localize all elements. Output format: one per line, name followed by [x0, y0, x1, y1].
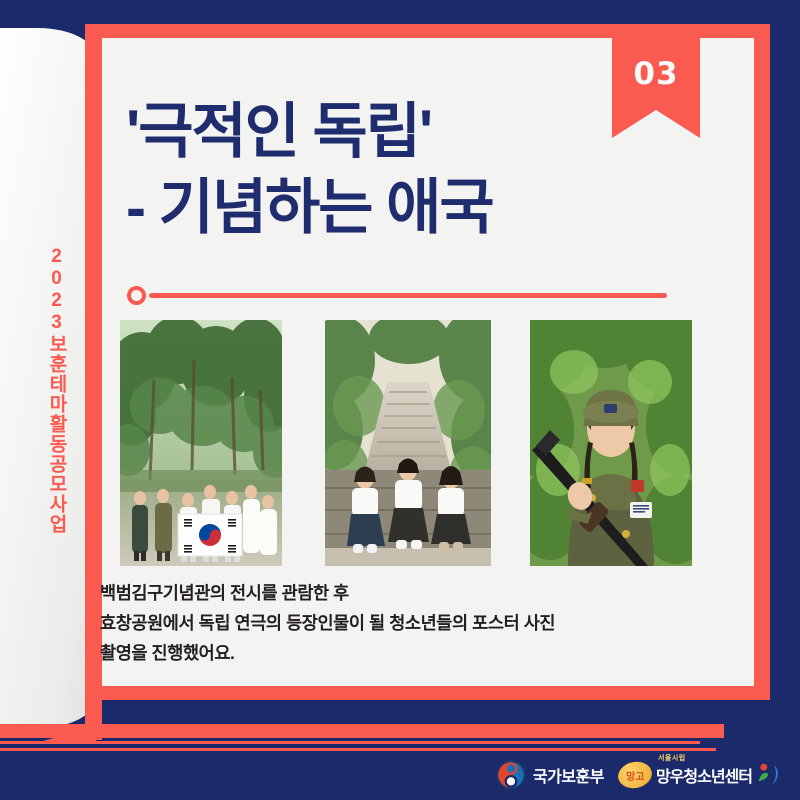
- title-divider: [127, 286, 667, 306]
- photo-group-with-taegukgi: [120, 320, 282, 566]
- stripe-3: [0, 748, 716, 751]
- divider-line: [149, 293, 667, 298]
- caption-line-2: 효창공원에서 독립 연극의 등장인물이 될 청소년들의 포스터 사진: [100, 608, 700, 638]
- photo-youth-in-uniform: [530, 320, 692, 566]
- center-logo: 망고 서울시립 망우청소년센터: [618, 762, 782, 788]
- mango-badge-icon: 망고: [616, 759, 655, 792]
- seoul-mark-icon: [756, 762, 782, 788]
- photo-caption: 백범김구기념관의 전시를 관람한 후 효창공원에서 독립 연극의 등장인물이 될…: [100, 578, 700, 668]
- ministry-label: 국가보훈부: [533, 763, 604, 787]
- mango-label: 망고: [626, 768, 644, 783]
- photo-gallery: [120, 320, 692, 566]
- logo-group: 국가보훈부 망고 서울시립 망우청소년센터: [496, 758, 782, 792]
- center-label: 망우청소년센터: [656, 763, 752, 787]
- taegeuk-icon: [496, 760, 526, 790]
- stripe-1: [0, 724, 724, 738]
- caption-line-1: 백범김구기념관의 전시를 관람한 후: [100, 578, 700, 608]
- center-superlabel: 서울시립: [658, 753, 686, 763]
- stripe-2: [0, 741, 700, 744]
- step-number-label: 03: [633, 56, 678, 92]
- book-top-curve: [0, 22, 96, 88]
- divider-circle-icon: [127, 286, 146, 305]
- photo-three-youths-on-steps: [325, 320, 491, 566]
- campaign-side-label: 2023보훈테마활동공모사업: [16, 190, 72, 590]
- title-line-1: '극적인 독립': [126, 96, 666, 168]
- poster-card: 2023보훈테마활동공모사업 03 '극적인 독립' - 기념하는 애국: [0, 0, 800, 800]
- title-line-2: - 기념하는 애국: [126, 172, 666, 244]
- ministry-logo: 국가보훈부: [496, 760, 604, 790]
- caption-line-3: 촬영을 진행했어요.: [100, 638, 700, 668]
- page-title: '극적인 독립' - 기념하는 애국: [126, 96, 666, 244]
- footer: 국가보훈부 망고 서울시립 망우청소년센터: [0, 752, 800, 800]
